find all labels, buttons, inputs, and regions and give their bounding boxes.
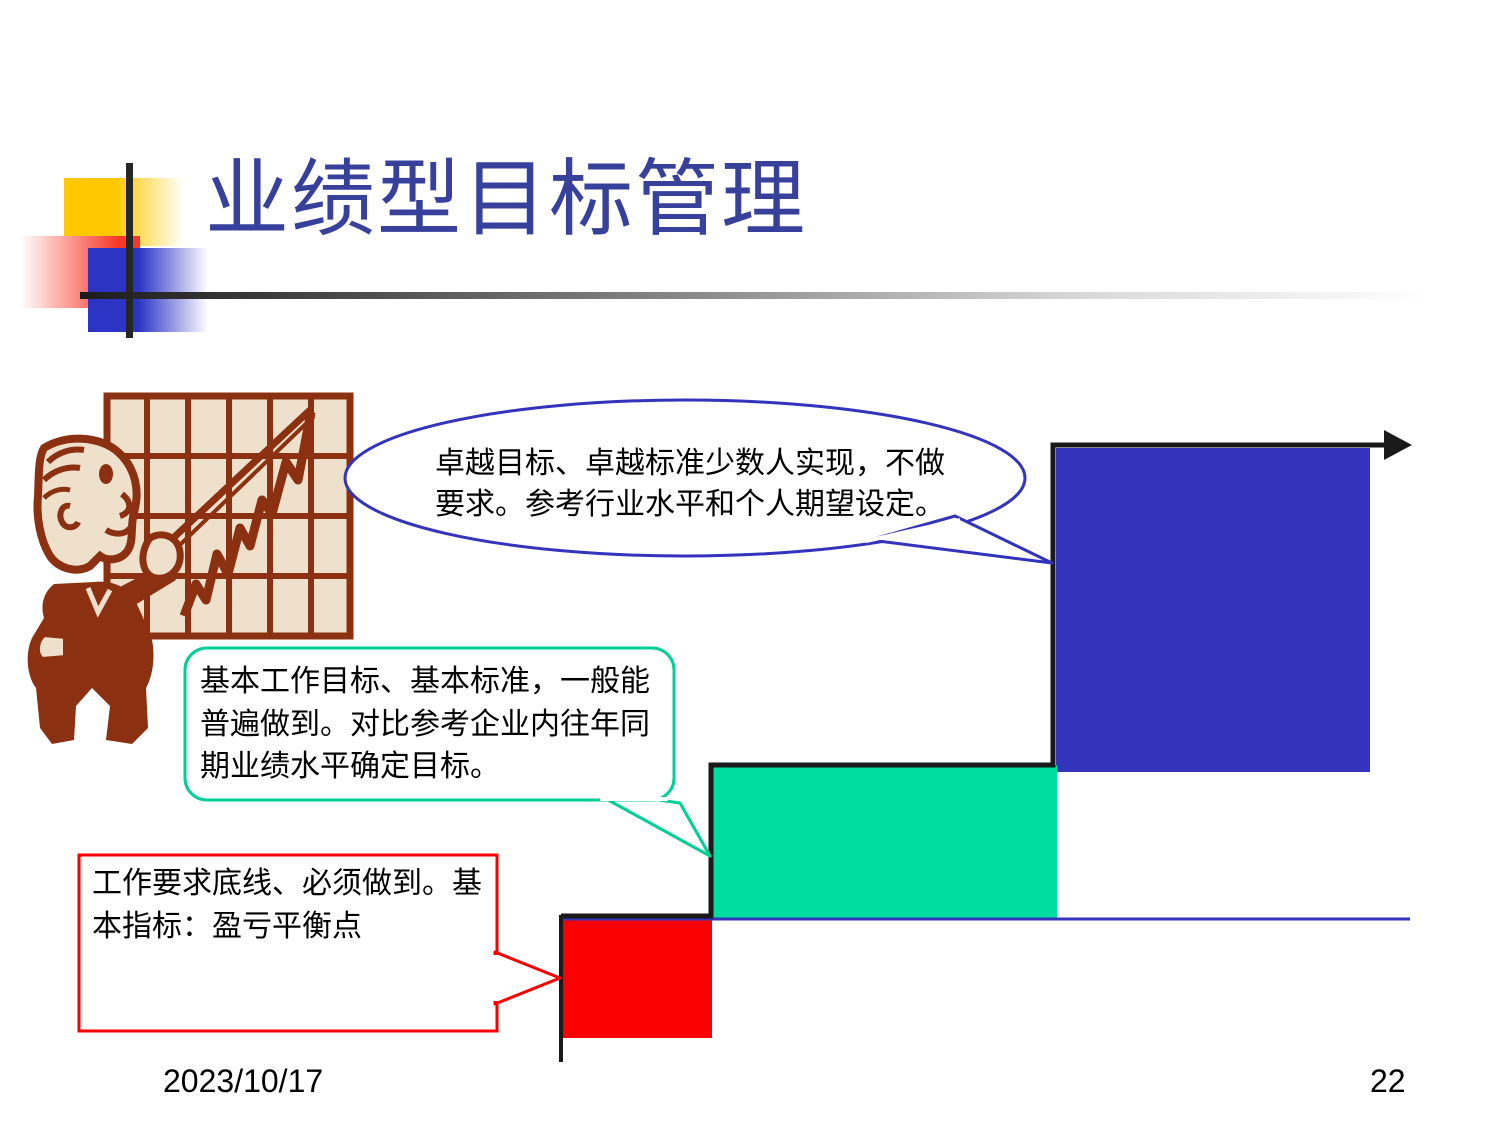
- decoration-vertical-line: [126, 163, 133, 338]
- chart-bar-basic: [710, 765, 1057, 919]
- decoration-blue-square: [88, 248, 208, 332]
- slide-canvas: 业绩型目标管理: [0, 0, 1500, 1125]
- callout-bottomline-text: 工作要求底线、必须做到。基本指标：盈亏平衡点: [92, 863, 492, 948]
- chart-arrow-head: [1384, 430, 1412, 460]
- chart-bar-excellent: [1056, 448, 1370, 772]
- footer-date: 2023/10/17: [163, 1063, 323, 1100]
- page-title: 业绩型目标管理: [205, 155, 807, 247]
- chart-bar-bottomline: [561, 920, 712, 1038]
- decoration-horizontal-rule: [80, 292, 1470, 299]
- callout-basic-text: 基本工作目标、基本标准，一般能普遍做到。对比参考企业内往年同期业绩水平确定目标。: [200, 661, 662, 789]
- footer-page-number: 22: [1370, 1063, 1406, 1100]
- callout-excellent-text: 卓越目标、卓越标准少数人实现，不做要求。参考行业水平和个人期望设定。: [430, 443, 950, 526]
- callout-basic-tail: [590, 790, 710, 856]
- callout-bottomline-tail: [495, 952, 560, 1004]
